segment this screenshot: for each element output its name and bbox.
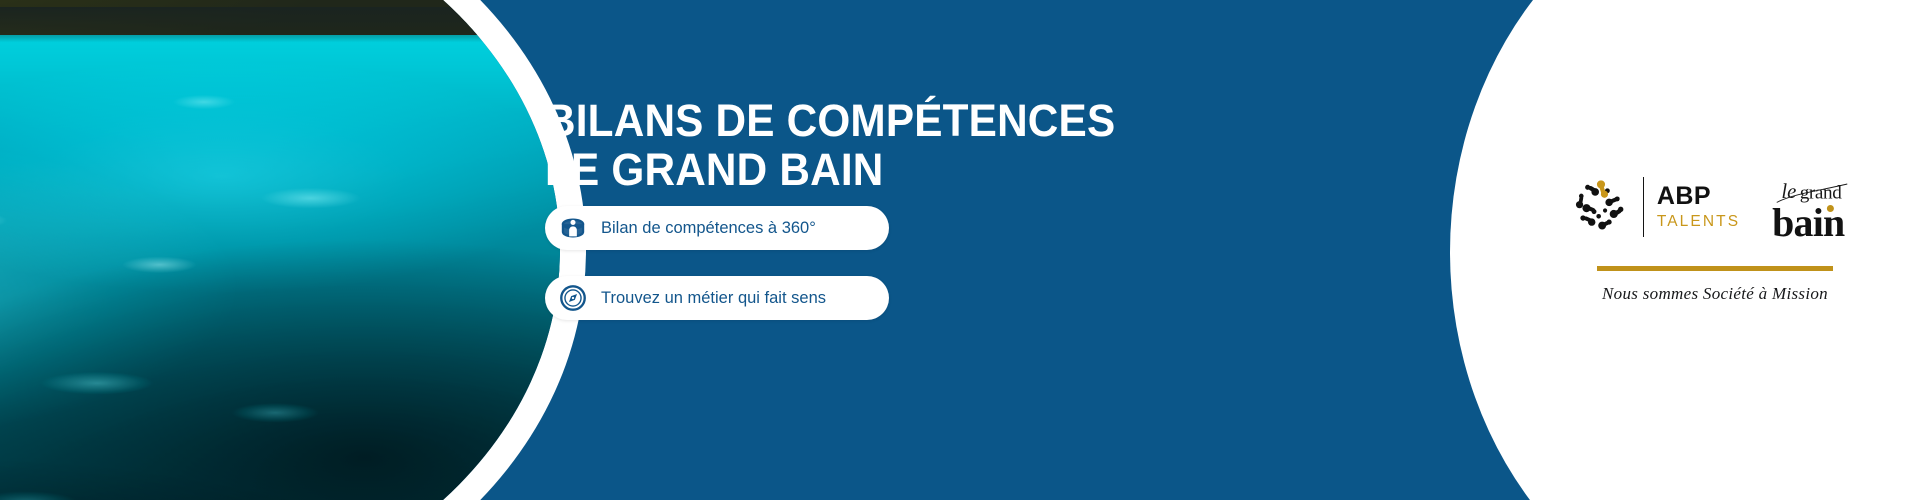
abp-network-dots-icon: [1572, 178, 1630, 236]
banner-content: Bilans de compétencesLe grand bain Bilan…: [545, 0, 1305, 500]
abp-tagline: TALENTS: [1657, 214, 1740, 230]
logo-divider: [1643, 177, 1644, 237]
abp-wordmark: ABP TALENTS: [1657, 184, 1740, 230]
le-grand-bain-wordmark-icon[interactable]: le grand bain: [1766, 170, 1858, 244]
cta-metier-sens-label: Trouvez un métier qui fait sens: [601, 289, 826, 308]
abp-name: ABP: [1657, 184, 1740, 209]
cta-list: Bilan de compétences à 360° Trouvez un m…: [545, 206, 1305, 346]
mission-statement: Nous sommes Société à Mission: [1602, 284, 1828, 304]
promo-banner: Bilans de compétencesLe grand bain Bilan…: [0, 0, 1920, 500]
gold-rule-divider: [1597, 266, 1833, 271]
compass-icon: [559, 284, 587, 312]
logo-row: ABP TALENTS le grand bain: [1572, 168, 1858, 246]
partner-logos: ABP TALENTS le grand bain Nous sommes So…: [1550, 168, 1880, 304]
headline-line-1: Bilans de compétences: [545, 95, 1115, 146]
svg-text:bain: bain: [1772, 200, 1845, 244]
cenote-water-backdrop: [0, 0, 560, 500]
diver-photo-frame: [0, 0, 600, 500]
diver-photo: [0, 0, 560, 500]
cta-metier-sens-button[interactable]: Trouvez un métier qui fait sens: [545, 276, 889, 320]
cave-rock-ceiling: [0, 0, 560, 35]
cta-bilan-360-button[interactable]: Bilan de compétences à 360°: [545, 206, 889, 250]
cta-bilan-360-label: Bilan de compétences à 360°: [601, 219, 816, 238]
person-360-icon: [559, 214, 587, 242]
headline-line-2: Le grand bain: [545, 145, 1259, 194]
page-title: Bilans de compétencesLe grand bain: [545, 96, 1259, 194]
abp-talents-logo[interactable]: ABP TALENTS: [1572, 177, 1740, 237]
